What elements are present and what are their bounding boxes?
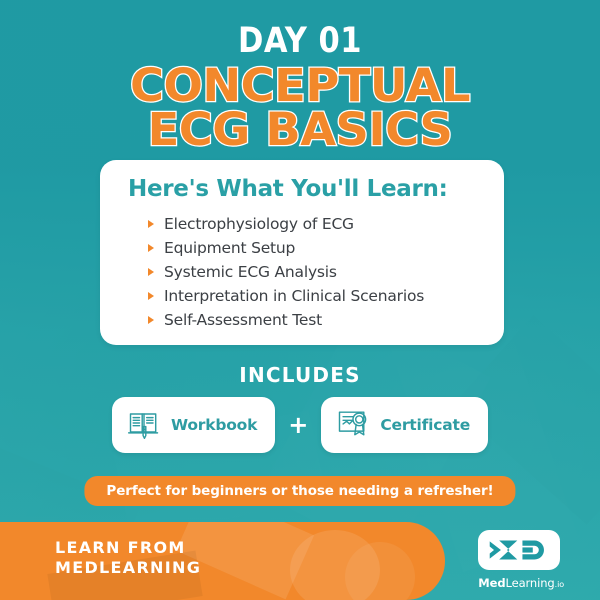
list-item-label: Electrophysiology of ECG <box>164 215 354 233</box>
list-item-label: Systemic ECG Analysis <box>164 263 337 281</box>
certificate-seal-icon <box>335 405 371 446</box>
title-line-2: ECG BASICS <box>0 108 600 151</box>
open-book-pencil-icon <box>126 405 162 446</box>
footer-cta: LEARN FROM MEDLEARNING <box>55 538 201 578</box>
brand-logo: MedLearning.io <box>478 530 564 590</box>
medlearning-arrow-e-d-icon <box>478 530 560 570</box>
triangle-bullet-icon <box>148 316 154 324</box>
triangle-bullet-icon <box>148 244 154 252</box>
title-line-1: CONCEPTUAL <box>0 64 600 107</box>
badge-label: Workbook <box>171 416 257 434</box>
includes-badges: Workbook + Certificate <box>0 397 600 453</box>
list-item: Self-Assessment Test <box>148 308 482 332</box>
learn-card: Here's What You'll Learn: Electrophysiol… <box>100 160 504 345</box>
footer-texture <box>345 542 415 600</box>
badge-workbook: Workbook <box>112 397 275 453</box>
badge-label: Certificate <box>380 416 470 434</box>
list-item-label: Interpretation in Clinical Scenarios <box>164 287 424 305</box>
triangle-bullet-icon <box>148 268 154 276</box>
brand-word-bold: Med <box>478 576 505 590</box>
list-item: Equipment Setup <box>148 236 482 260</box>
learn-card-heading: Here's What You'll Learn: <box>128 176 482 202</box>
day-label: DAY 01 <box>9 24 591 59</box>
list-item-label: Equipment Setup <box>164 239 295 257</box>
title-block: DAY 01 CONCEPTUAL ECG BASICS <box>0 24 600 151</box>
tagline-pill: Perfect for beginners or those needing a… <box>84 476 515 506</box>
brand-wordmark: MedLearning.io <box>478 576 564 590</box>
badge-certificate: Certificate <box>321 397 488 453</box>
list-item-label: Self-Assessment Test <box>164 311 322 329</box>
plus-separator: + <box>288 411 308 439</box>
brand-word-suffix: .io <box>555 580 564 589</box>
list-item: Systemic ECG Analysis <box>148 260 482 284</box>
list-item: Electrophysiology of ECG <box>148 212 482 236</box>
list-item: Interpretation in Clinical Scenarios <box>148 284 482 308</box>
footer-cta-line-1: LEARN FROM <box>55 538 201 558</box>
poster-canvas: DAY 01 CONCEPTUAL ECG BASICS Here's What… <box>0 0 600 600</box>
learn-list: Electrophysiology of ECG Equipment Setup… <box>122 212 482 332</box>
brand-word-light: Learning <box>505 576 554 590</box>
triangle-bullet-icon <box>148 292 154 300</box>
includes-heading: INCLUDES <box>0 363 600 387</box>
footer-cta-line-2: MEDLEARNING <box>55 558 201 578</box>
triangle-bullet-icon <box>148 220 154 228</box>
